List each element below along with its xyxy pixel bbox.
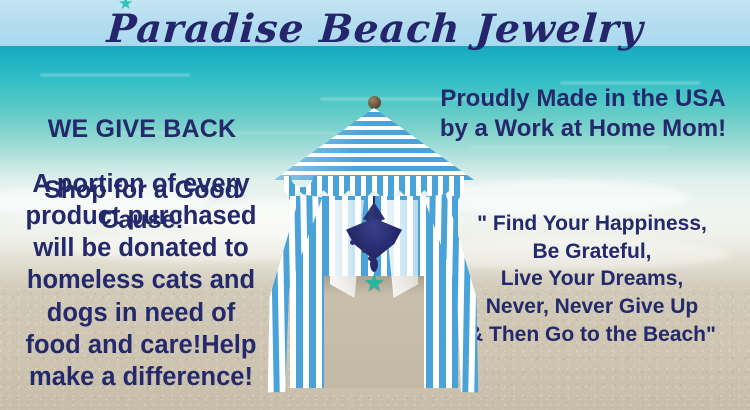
paradise-beach-jewelry-banner: Paradise Beach Jewelry ★ WE GIVE BACK Sh… (0, 0, 750, 410)
star-icon: ★ (118, 0, 133, 11)
chandelier-body (346, 218, 402, 260)
starfish-icon: ★ (363, 272, 385, 294)
brand-title-container: Paradise Beach Jewelry ★ (0, 0, 750, 58)
inspirational-quote: " Find Your Happiness, Be Grateful, Live… (436, 210, 748, 349)
give-back-line-1: WE GIVE BACK (6, 114, 278, 144)
page-title: Paradise Beach Jewelry (105, 6, 645, 52)
donation-body-text: A portion of every product purchased wil… (2, 168, 280, 393)
roof-highlight (274, 108, 474, 180)
finial-ball-icon (368, 96, 381, 109)
beach-cabana-illustration: ★ (272, 96, 476, 396)
